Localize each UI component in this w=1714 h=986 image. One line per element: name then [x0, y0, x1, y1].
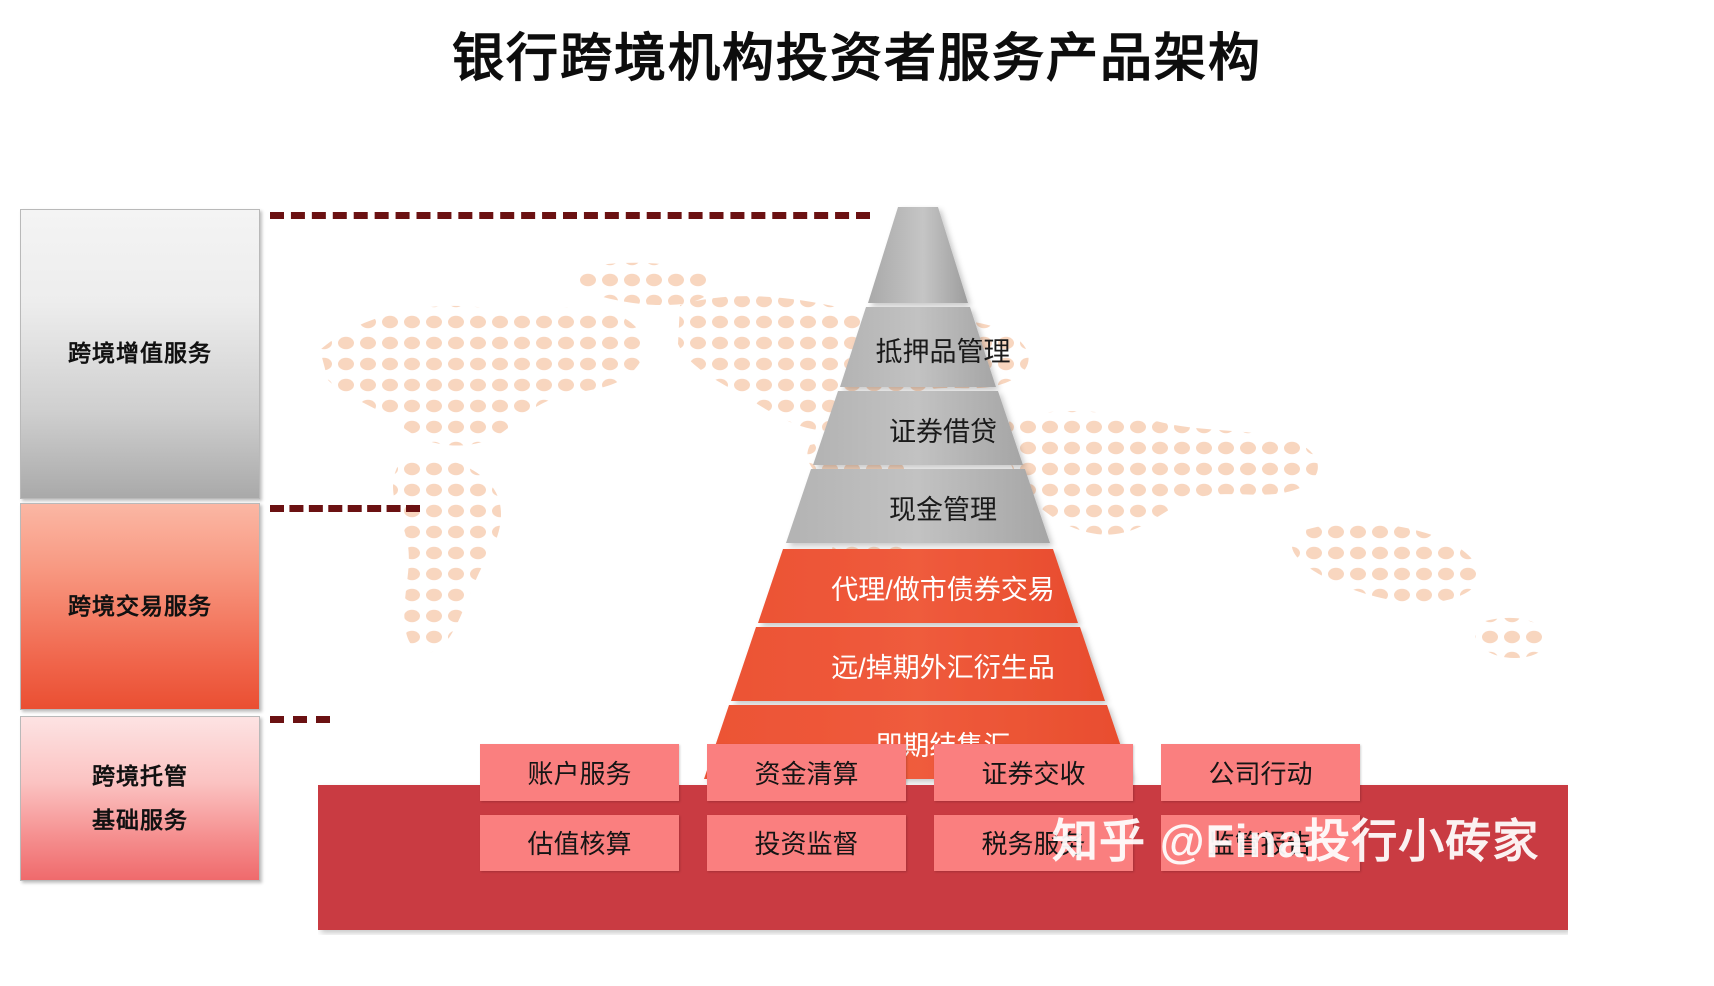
base-box-clearing[interactable]: 资金清算 [707, 744, 906, 801]
base-box-regulatory[interactable]: 监管报告 [1161, 815, 1360, 872]
tier-apex[interactable] [868, 207, 968, 303]
base-box-corp-action[interactable]: 公司行动 [1161, 744, 1360, 801]
legend-panel-value-added[interactable]: 跨境增值服务 [20, 209, 260, 499]
tier-fx-deriv[interactable] [731, 627, 1105, 701]
tier-bond[interactable] [758, 549, 1078, 623]
base-box-account[interactable]: 账户服务 [480, 744, 679, 801]
tier-cash[interactable] [786, 469, 1050, 543]
base-box-supervision[interactable]: 投资监督 [707, 815, 906, 872]
legend-label-trading: 跨境交易服务 [68, 585, 212, 629]
base-box-settlement[interactable]: 证券交收 [934, 744, 1133, 801]
legend-label-custody-1: 跨境托管 [92, 755, 188, 799]
legend-panel-trading[interactable]: 跨境交易服务 [20, 503, 260, 710]
legend-panel-custody[interactable]: 跨境托管 基础服务 [20, 716, 260, 881]
base-service-grid: 账户服务 资金清算 证券交收 公司行动 估值核算 投资监督 税务服务 监管报告 [470, 730, 1370, 885]
base-box-tax[interactable]: 税务服务 [934, 815, 1133, 872]
legend-label-custody-2: 基础服务 [92, 799, 188, 843]
tier-seclending[interactable] [813, 391, 1023, 465]
base-box-valuation[interactable]: 估值核算 [480, 815, 679, 872]
tier-collateral[interactable] [840, 307, 996, 387]
legend-label-value-added: 跨境增值服务 [68, 332, 212, 376]
page-title: 银行跨境机构投资者服务产品架构 [0, 16, 1714, 91]
